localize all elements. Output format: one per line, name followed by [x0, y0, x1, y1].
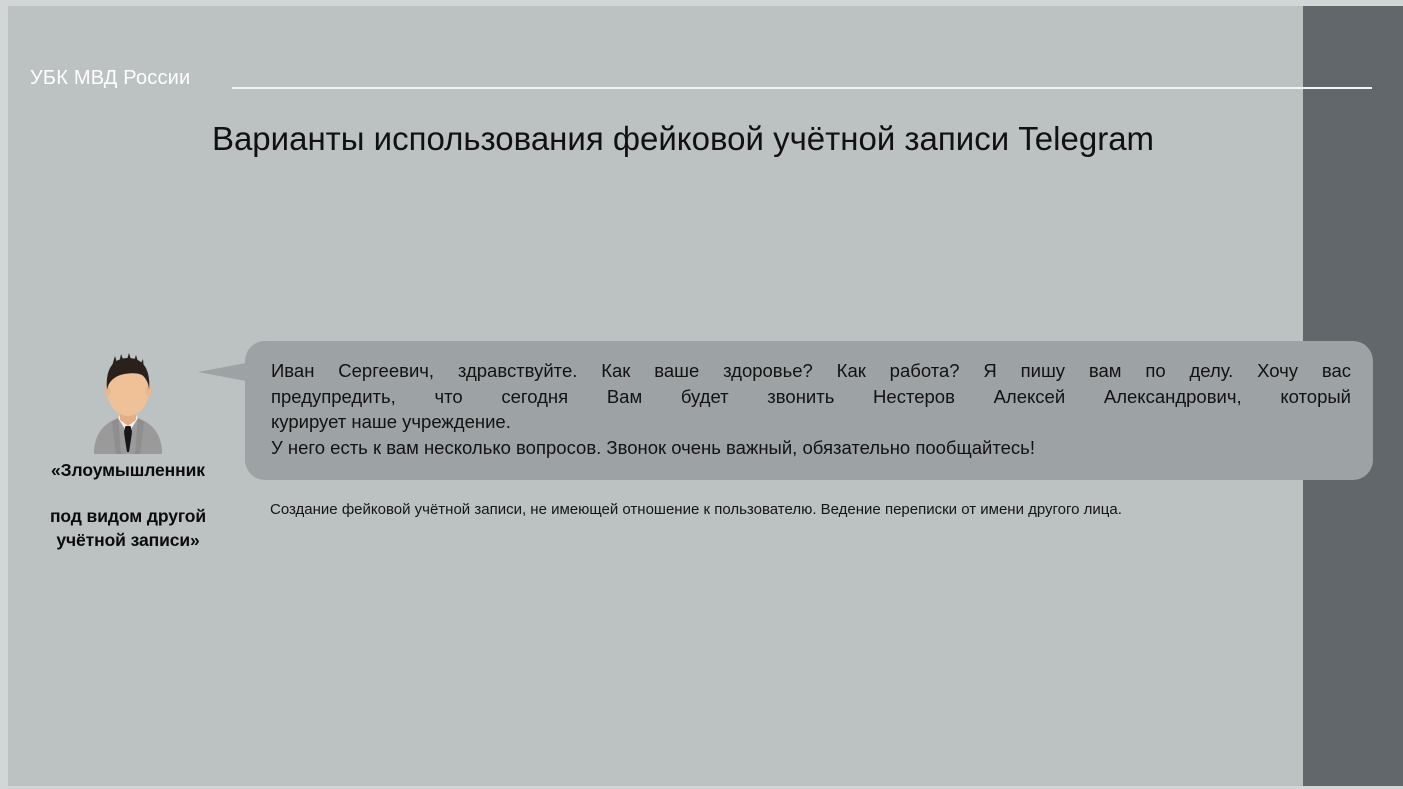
message-line-4: У него есть к вам несколько вопросов. Зв…	[271, 435, 1351, 461]
attacker-caption-line-3: учётной записи»	[16, 528, 240, 552]
header-divider-rule	[232, 87, 1372, 89]
person-suit-avatar-icon	[72, 342, 184, 454]
page-title: Варианты использования фейковой учётной …	[68, 118, 1298, 160]
slide-header-label: УБК МВД России	[30, 66, 190, 90]
message-line-1: Иван Сергеевич, здравствуйте. Как ваше з…	[271, 358, 1351, 384]
slide-body: УБК МВД России Варианты использования фе…	[8, 6, 1403, 786]
explanatory-caption: Создание фейковой учётной записи, не име…	[270, 499, 1348, 520]
attacker-caption-line-1: «Злоумышленник	[16, 458, 240, 482]
presentation-slide: УБК МВД России Варианты использования фе…	[0, 0, 1403, 789]
message-bubble: Иван Сергеевич, здравствуйте. Как ваше з…	[245, 341, 1373, 480]
message-line-2: предупредить, что сегодня Вам будет звон…	[271, 384, 1351, 410]
message-bubble-tail	[198, 363, 246, 381]
message-line-3: курирует наше учреждение.	[271, 409, 1351, 435]
attacker-caption-line-2: под видом другой	[16, 504, 240, 528]
